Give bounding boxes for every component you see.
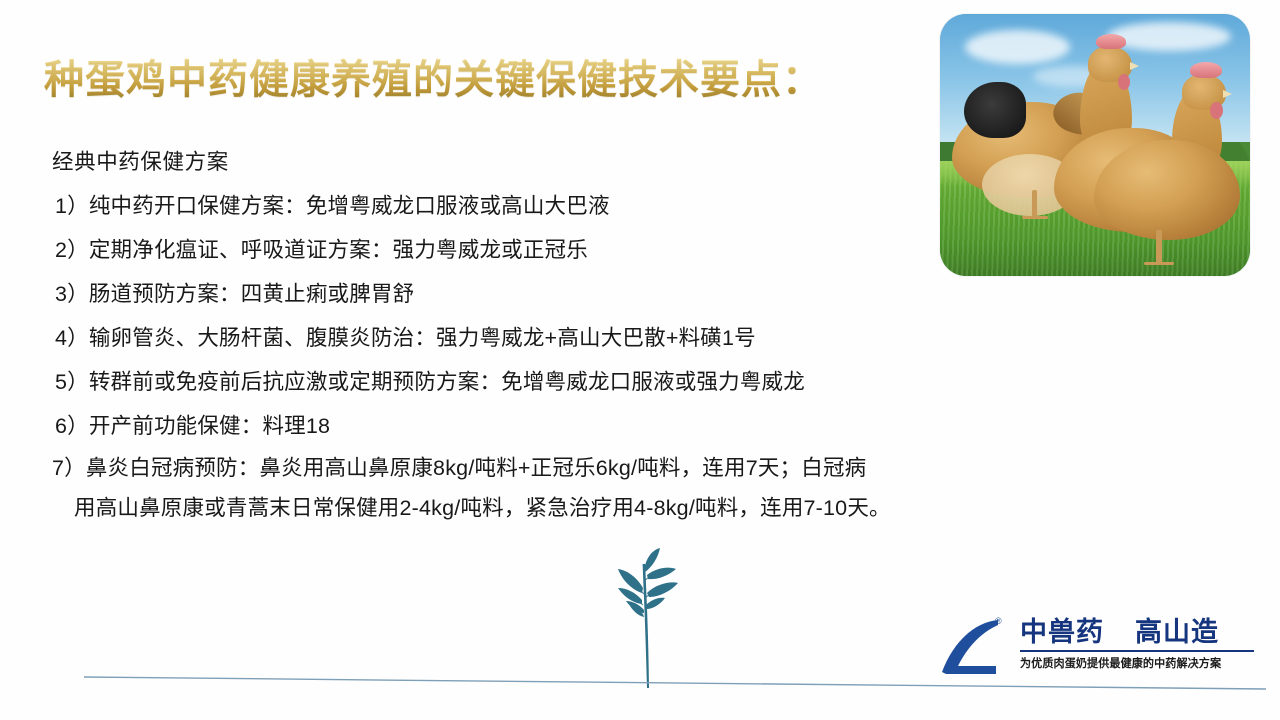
logo-tagline: 为优质肉蛋奶提供最健康的中药解决方案 [1020, 655, 1254, 671]
intro-line: 经典中药保健方案 [52, 140, 1242, 184]
content-text-block: 经典中药保健方案 1）纯中药开口保健方案：免增粤威龙口服液或高山大巴液 2）定期… [52, 140, 1242, 528]
hen-dark-hackle [964, 82, 1026, 138]
hen-beak [1223, 90, 1232, 98]
list-item-line-2: 用高山鼻原康或青蒿末日常保健用2-4kg/吨料，紧急治疗用4-8kg/吨料，连用… [52, 488, 1242, 528]
list-item: 3）肠道预防方案：四黄止痢或脾胃舒 [52, 272, 1242, 316]
list-item: 6）开产前功能保健：料理18 [52, 404, 1242, 448]
list-item: 4）输卵管炎、大肠杆菌、腹膜炎防治：强力粤威龙+高山大巴散+料磺1号 [52, 316, 1242, 360]
list-item-line-1: 7）鼻炎白冠病预防：鼻炎用高山鼻原康8kg/吨料+正冠乐6kg/吨料，连用7天；… [52, 448, 1242, 488]
brand-name-right: 高山造 [1135, 617, 1219, 647]
slide-canvas: 种蛋鸡中药健康养殖的关键保健技术要点： [0, 0, 1280, 720]
logo-wordmark: 中兽药 高山造 为优质肉蛋奶提供最健康的中药解决方案 [1020, 616, 1256, 671]
list-item: 1）纯中药开口保健方案：免增粤威龙口服液或高山大巴液 [52, 184, 1242, 228]
brand-name: 中兽药 高山造 [1020, 616, 1256, 648]
list-item: 5）转群前或免疫前后抗应激或定期预防方案：免增粤威龙口服液或强力粤威龙 [52, 360, 1242, 404]
brand-logo: ® 中兽药 高山造 为优质肉蛋奶提供最健康的中药解决方案 [938, 614, 1256, 684]
hen-comb [1190, 62, 1222, 78]
logo-divider [1020, 650, 1254, 652]
hen-wattle [1210, 102, 1223, 119]
registered-trademark-icon: ® [995, 616, 1002, 626]
list-item: 2）定期净化瘟证、呼吸道证方案：强力粤威龙或正冠乐 [52, 228, 1242, 272]
brand-name-left: 中兽药 [1020, 617, 1104, 647]
page-title: 种蛋鸡中药健康养殖的关键保健技术要点： [44, 58, 823, 103]
list-item: 7）鼻炎白冠病预防：鼻炎用高山鼻原康8kg/吨料+正冠乐6kg/吨料，连用7天；… [52, 448, 1242, 528]
herb-sprig-illustration [592, 548, 702, 688]
hen-comb [1096, 34, 1126, 49]
